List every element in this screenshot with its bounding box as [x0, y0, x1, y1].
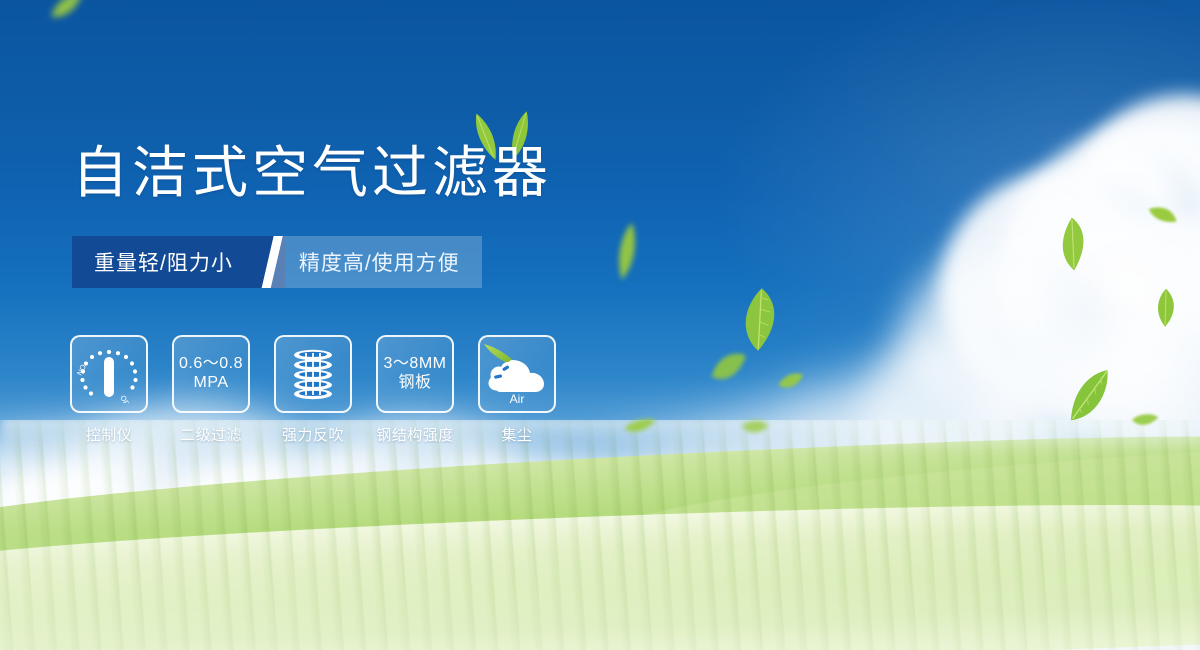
svg-text:OFF: OFF: [118, 394, 133, 403]
feature-icon-box: 0.6～0.8 MPA: [172, 335, 250, 413]
feature-item-dust-collection[interactable]: Air 集尘: [478, 335, 556, 445]
feature-item-pressure[interactable]: 0.6～0.8 MPA 二级过滤: [172, 335, 250, 445]
pressure-line-2: MPA: [179, 374, 243, 393]
feature-item-backblow[interactable]: 强力反吹: [274, 335, 352, 445]
feature-icon-box: NO OFF: [70, 335, 148, 413]
feature-list: NO OFF 控制仪 0.6～0.8 MPA 二级过滤: [70, 335, 556, 445]
steel-line-1: 3～8MM: [384, 355, 447, 372]
feature-icon-box: [274, 335, 352, 413]
feature-item-steel[interactable]: 3～8MM 钢板 钢结构强度: [376, 335, 454, 445]
page-title: 自洁式空气过滤器: [72, 145, 552, 201]
feature-icon-box: Air: [478, 335, 556, 413]
badge-divider: [259, 236, 285, 288]
steel-plate-text-icon: 3～8MM 钢板: [384, 355, 447, 393]
feature-label: 二级过滤: [180, 424, 242, 445]
filter-coil-icon: [284, 345, 342, 403]
feature-item-control-dial[interactable]: NO OFF 控制仪: [70, 335, 148, 445]
feature-label: 钢结构强度: [376, 424, 454, 445]
feature-label: 强力反吹: [282, 424, 344, 445]
air-cloud-icon: Air: [482, 342, 552, 406]
badge-primary: 重量轻/阻力小: [72, 236, 259, 288]
banner-content: 自洁式空气过滤器 重量轻/阻力小 精度高/使用方便: [0, 0, 1200, 650]
banner-stage: 自洁式空气过滤器 重量轻/阻力小 精度高/使用方便: [0, 0, 1200, 650]
air-label: Air: [510, 392, 525, 406]
feature-label: 控制仪: [86, 424, 133, 445]
pressure-text-icon: 0.6～0.8 MPA: [179, 355, 243, 393]
badge-secondary: 精度高/使用方便: [285, 236, 482, 288]
control-dial-icon: NO OFF: [77, 345, 141, 403]
steel-line-2: 钢板: [384, 374, 447, 393]
feature-icon-box: 3～8MM 钢板: [376, 335, 454, 413]
pressure-line-1: 0.6～0.8: [179, 355, 243, 372]
feature-label: 集尘: [501, 424, 532, 445]
tagline-badges: 重量轻/阻力小 精度高/使用方便: [72, 236, 482, 288]
